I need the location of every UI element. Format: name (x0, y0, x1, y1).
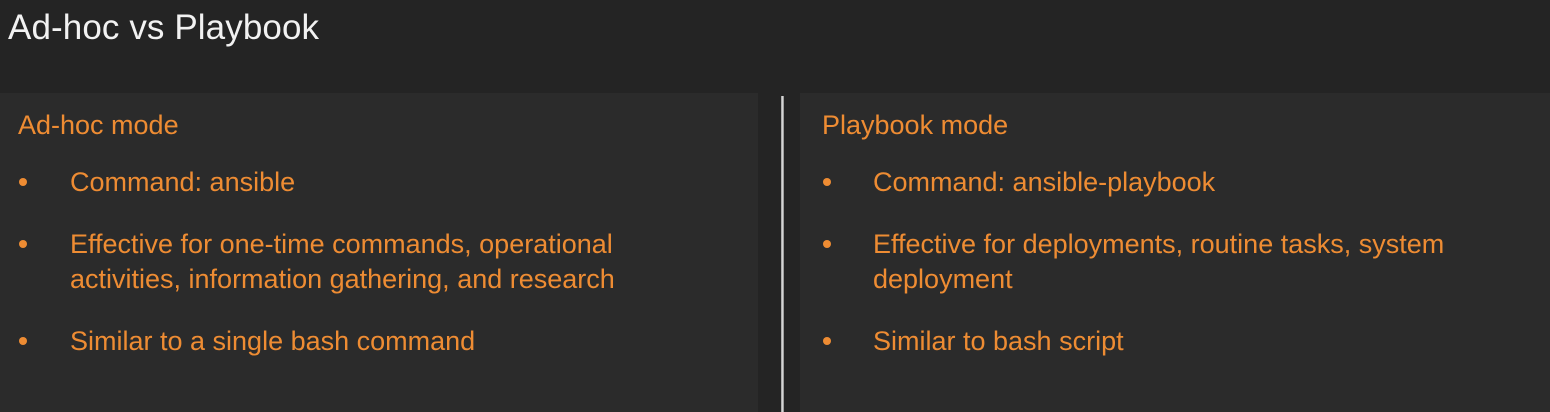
bullet-list-ad-hoc: Command: ansible Effective for one-time … (0, 165, 758, 386)
list-item-label: Command: ansible (70, 165, 710, 200)
bullet-dot-icon (19, 337, 27, 345)
panel-heading-ad-hoc: Ad-hoc mode (18, 108, 179, 142)
panel-ad-hoc-mode: Ad-hoc mode Command: ansible Effective f… (0, 93, 758, 412)
list-item-label: Similar to a single bash command (70, 324, 710, 359)
panel-playbook-mode: Playbook mode Command: ansible-playbook … (800, 93, 1550, 412)
bullet-dot-icon (823, 240, 831, 248)
panel-heading-playbook: Playbook mode (822, 108, 1008, 142)
bullet-dot-icon (19, 240, 27, 248)
list-item: Command: ansible-playbook (800, 165, 1550, 200)
list-item-label: Effective for one-time commands, operati… (70, 227, 710, 297)
bullet-dot-icon (19, 178, 27, 186)
slide-canvas: Ad-hoc vs Playbook Ad-hoc mode Command: … (0, 0, 1550, 412)
list-item-label: Command: ansible-playbook (873, 165, 1530, 200)
list-item: Similar to bash script (800, 324, 1550, 359)
bullet-list-playbook: Command: ansible-playbook Effective for … (800, 165, 1550, 386)
list-item-label: Similar to bash script (873, 324, 1530, 359)
list-item: Similar to a single bash command (0, 324, 758, 359)
list-item: Effective for one-time commands, operati… (0, 227, 758, 297)
list-item-label: Effective for deployments, routine tasks… (873, 227, 1530, 297)
column-divider (781, 96, 784, 412)
list-item: Command: ansible (0, 165, 758, 200)
bullet-dot-icon (823, 178, 831, 186)
list-item: Effective for deployments, routine tasks… (800, 227, 1550, 297)
page-title: Ad-hoc vs Playbook (8, 6, 319, 50)
bullet-dot-icon (823, 337, 831, 345)
